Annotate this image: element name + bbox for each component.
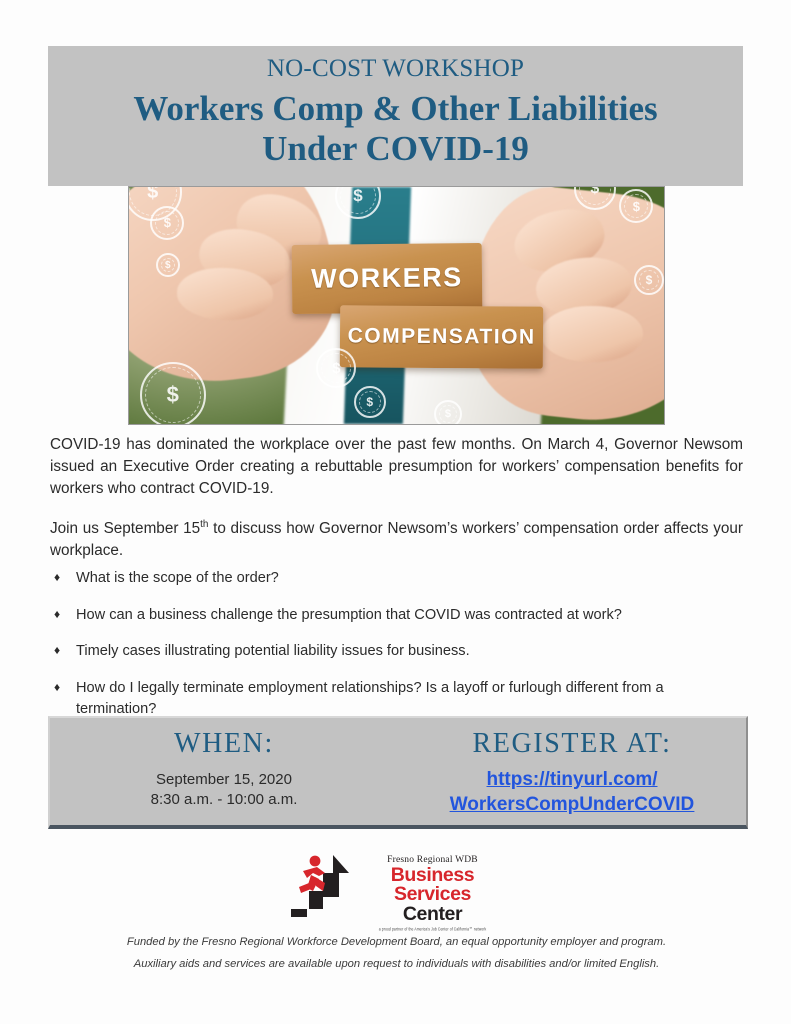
logo-org-line2: Center xyxy=(363,905,502,924)
runner-arrow-logo-icon xyxy=(289,851,365,917)
when-heading: WHEN: xyxy=(50,726,398,761)
page-title: Workers Comp & Other Liabilities Under C… xyxy=(48,89,743,171)
when-details: September 15, 2020 8:30 a.m. - 10:00 a.m… xyxy=(50,770,398,810)
event-date: September 15, 2020 xyxy=(50,770,398,790)
diamond-bullet-icon: ♦ xyxy=(50,678,76,696)
footer-line-1: Funded by the Fresno Regional Workforce … xyxy=(50,932,743,954)
list-item-label: How can a business challenge the presump… xyxy=(76,605,743,626)
when-column: WHEN: September 15, 2020 8:30 a.m. - 10:… xyxy=(50,718,398,825)
diamond-bullet-icon: ♦ xyxy=(50,568,76,586)
workshop-kicker: NO-COST WORKSHOP xyxy=(48,55,743,83)
event-details-box: WHEN: September 15, 2020 8:30 a.m. - 10:… xyxy=(48,716,748,829)
register-column: REGISTER AT: https://tinyurl.com/ Worker… xyxy=(398,718,746,825)
registration-url-line2[interactable]: WorkersCompUnderCOVID xyxy=(398,793,746,818)
footer-disclaimer: Funded by the Fresno Regional Workforce … xyxy=(50,932,743,976)
registration-url-line1[interactable]: https://tinyurl.com/ xyxy=(398,768,746,793)
intro-paragraph: COVID-19 has dominated the workplace ove… xyxy=(50,434,743,501)
list-item-label: Timely cases illustrating potential liab… xyxy=(76,641,743,662)
diamond-bullet-icon: ♦ xyxy=(50,641,76,659)
invitation-paragraph: Join us September 15th to discuss how Go… xyxy=(50,518,743,562)
list-item-label: How do I legally terminate employment re… xyxy=(76,678,743,719)
organization-logo: Fresno Regional WDB Business Services Ce… xyxy=(289,849,502,921)
page-title-line2: Under COVID-19 xyxy=(66,129,725,170)
flyer-page: NO-COST WORKSHOP Workers Comp & Other Li… xyxy=(0,0,791,1024)
diamond-bullet-icon: ♦ xyxy=(50,605,76,623)
header-banner: NO-COST WORKSHOP Workers Comp & Other Li… xyxy=(48,46,743,186)
wooden-block-compensation: COMPENSATION xyxy=(340,305,544,368)
photo-finger-6 xyxy=(541,306,643,363)
list-item: ♦ How can a business challenge the presu… xyxy=(50,605,743,626)
logo-org-line1: Business Services xyxy=(363,866,502,903)
wooden-block-workers: WORKERS xyxy=(292,243,483,314)
event-time: 8:30 a.m. - 10:00 a.m. xyxy=(50,790,398,810)
workers-compensation-photo: WORKERS COMPENSATION $ $ $ $ $ $ $ $ $ $… xyxy=(128,186,665,425)
list-item-label: What is the scope of the order? xyxy=(76,568,743,589)
list-item: ♦ How do I legally terminate employment … xyxy=(50,678,743,719)
body-copy: COVID-19 has dominated the workplace ove… xyxy=(50,434,743,579)
invitation-text-before: Join us September 15 xyxy=(50,520,200,537)
register-heading: REGISTER AT: xyxy=(398,726,746,761)
footer-line-2: Auxiliary aids and services are availabl… xyxy=(50,954,743,976)
topics-list: ♦ What is the scope of the order? ♦ How … xyxy=(50,568,743,736)
registration-link[interactable]: https://tinyurl.com/ WorkersCompUnderCOV… xyxy=(398,768,746,817)
list-item: ♦ Timely cases illustrating potential li… xyxy=(50,641,743,662)
page-title-line1: Workers Comp & Other Liabilities xyxy=(66,89,725,130)
logo-wordmark: Fresno Regional WDB Business Services Ce… xyxy=(363,849,502,931)
logo-tagline: a proud partner of the America's Job Cen… xyxy=(363,926,502,931)
list-item: ♦ What is the scope of the order? xyxy=(50,568,743,589)
